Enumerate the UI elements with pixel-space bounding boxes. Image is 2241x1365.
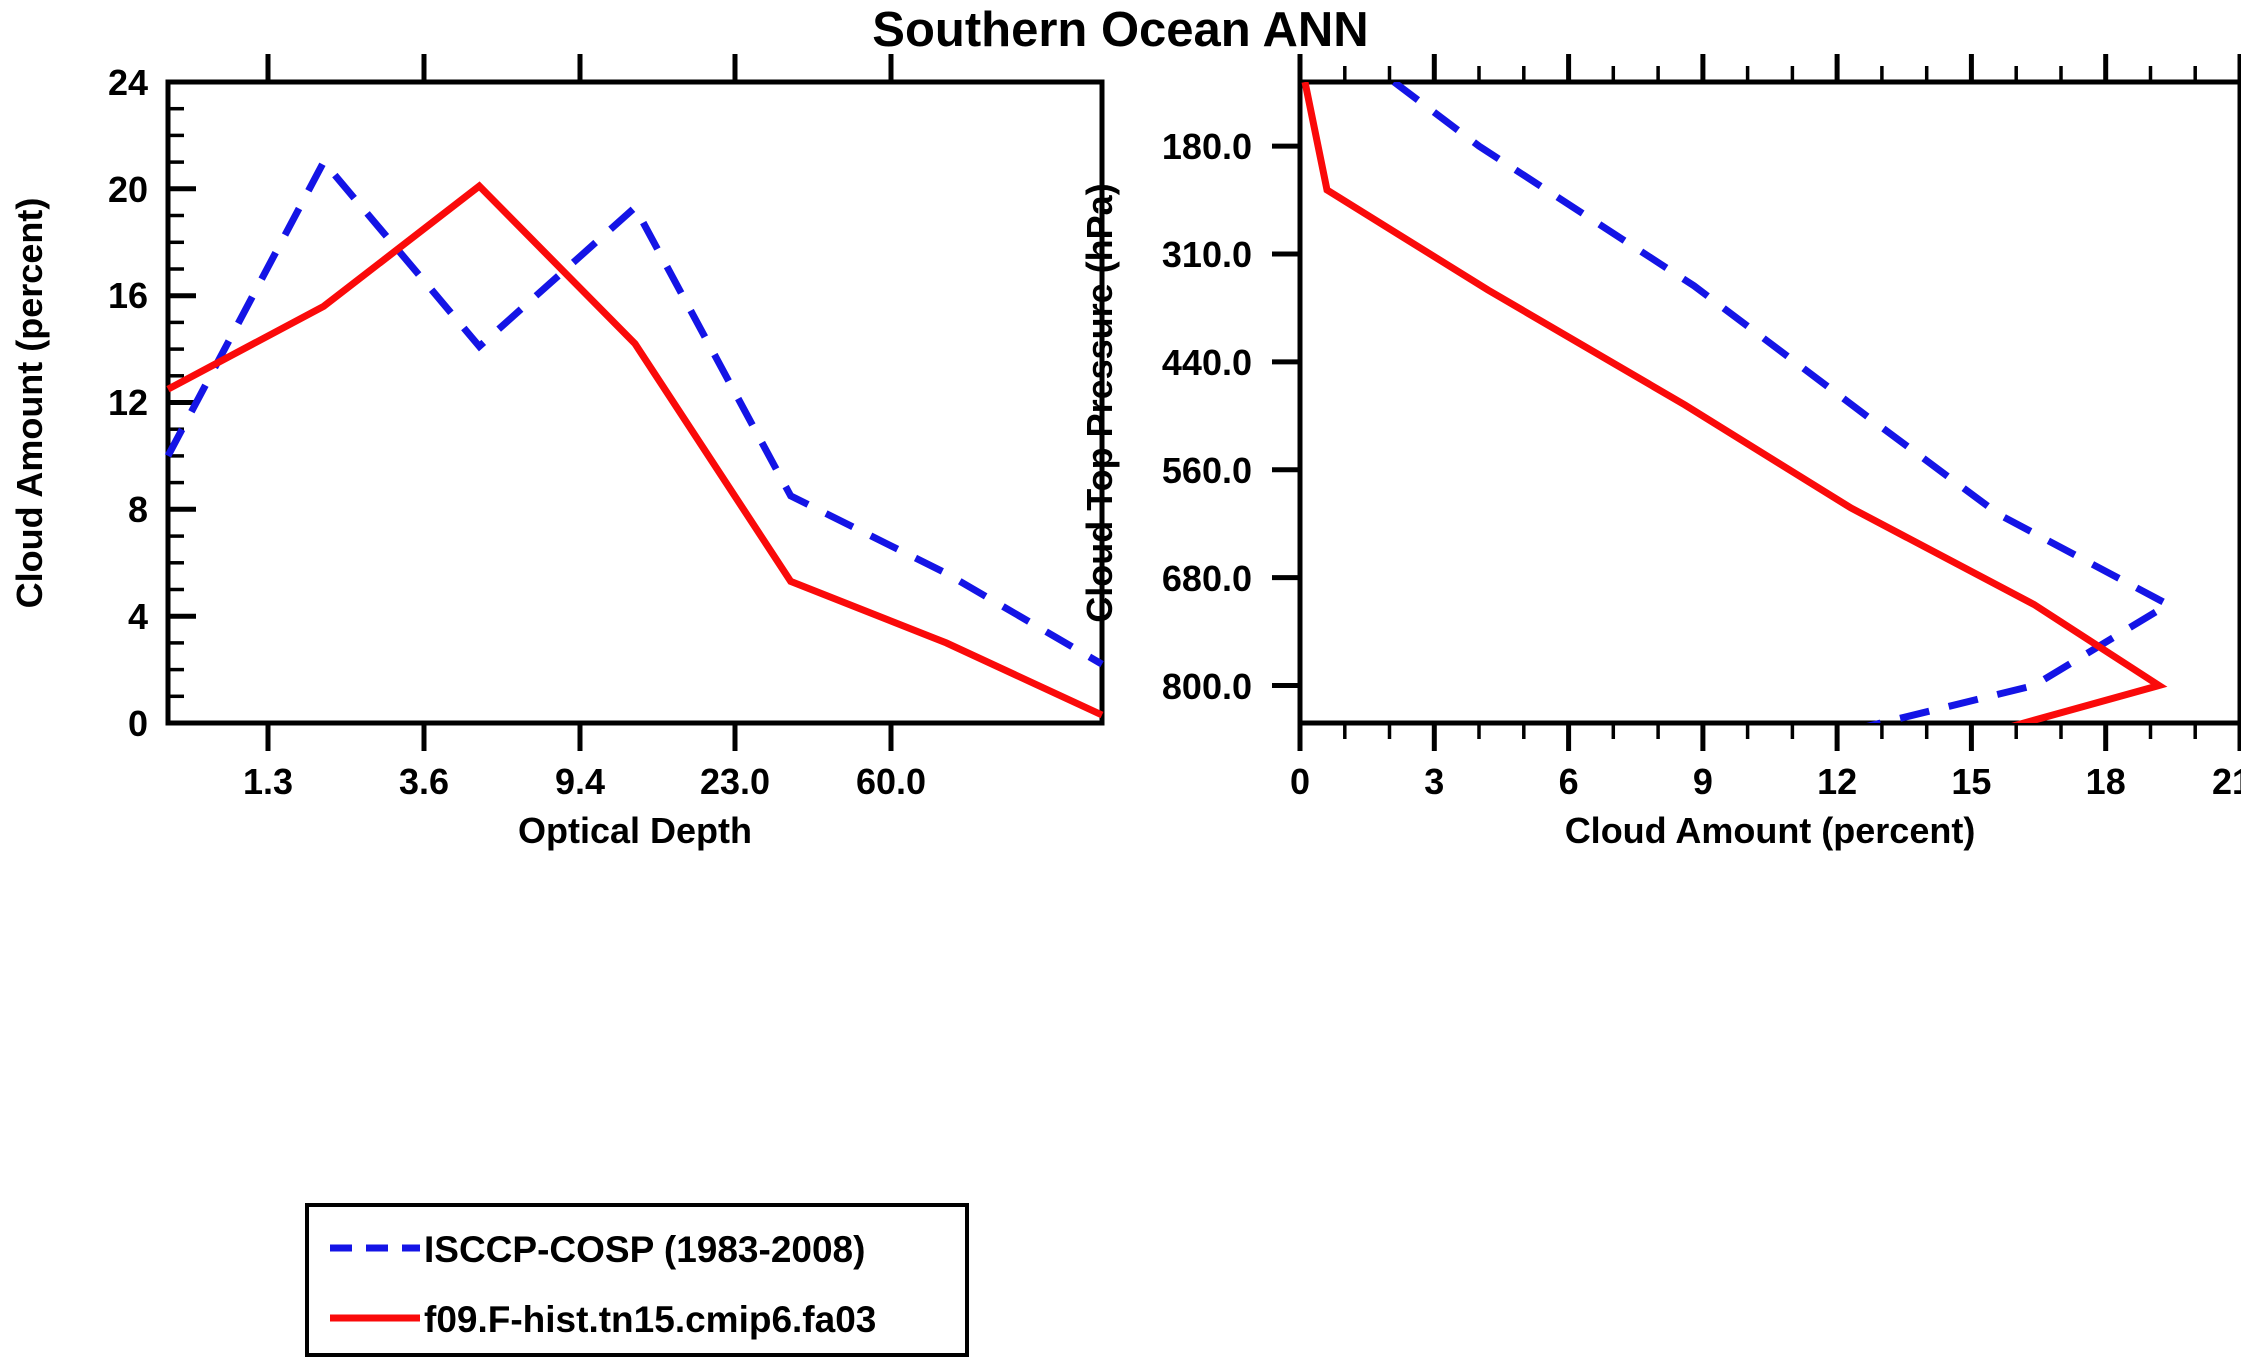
left-yaxis-label: Cloud Amount (percent) (9, 198, 50, 609)
right-xtick-21: 21 (2212, 761, 2241, 802)
left-xtick-2: 3.6 (399, 761, 449, 802)
right-ytick-800: 800.0 (1162, 666, 1252, 707)
right-yaxis-label: Cloud Top Pressure (hPa) (1079, 183, 1120, 622)
left-xtick-4: 23.0 (700, 761, 770, 802)
left-xaxis-label: Optical Depth (518, 810, 752, 851)
right-xtick-18: 18 (2086, 761, 2126, 802)
left-xtick-1: 1.3 (243, 761, 293, 802)
right-xtick-0: 0 (1290, 761, 1310, 802)
left-ytick-24: 24 (108, 62, 148, 103)
legend-label-isccp-cosp: ISCCP-COSP (1983-2008) (424, 1229, 865, 1270)
figure-root: Southern Ocean ANN (0, 0, 2241, 1365)
right-plot-frame (1300, 82, 2240, 723)
legend-label-f09-fhist: f09.F-hist.tn15.cmip6.fa03 (424, 1299, 876, 1340)
left-series-isccp-cosp (168, 162, 1102, 664)
left-series-f09-fhist (168, 186, 1102, 715)
left-xtick-5: 60.0 (856, 761, 926, 802)
left-plot-frame (168, 82, 1102, 723)
right-ytick-560: 560.0 (1162, 450, 1252, 491)
right-xtick-12: 12 (1817, 761, 1857, 802)
left-x-major-ticks (268, 54, 891, 751)
right-xaxis-label: Cloud Amount (percent) (1565, 810, 1976, 851)
right-series-f09-fhist (1305, 82, 2159, 760)
right-x-minor-ticks (1345, 66, 2195, 739)
right-xtick-9: 9 (1693, 761, 1713, 802)
right-ytick-440: 440.0 (1162, 342, 1252, 383)
left-y-major-ticks (168, 82, 196, 723)
right-ytick-310: 310.0 (1162, 234, 1252, 275)
left-ytick-8: 8 (128, 489, 148, 530)
left-ytick-0: 0 (128, 703, 148, 744)
figure-canvas: 0 4 8 12 16 20 24 1.3 3.6 9.4 (0, 0, 2241, 1365)
right-ytick-180: 180.0 (1162, 126, 1252, 167)
right-xtick-15: 15 (1951, 761, 1991, 802)
right-panel: 180.0 310.0 440.0 560.0 680.0 800.0 (1079, 54, 2241, 851)
left-ytick-4: 4 (128, 596, 148, 637)
right-xtick-6: 6 (1559, 761, 1579, 802)
left-ytick-12: 12 (108, 382, 148, 423)
left-ytick-16: 16 (108, 275, 148, 316)
legend: ISCCP-COSP (1983-2008) f09.F-hist.tn15.c… (307, 1205, 967, 1355)
left-xtick-3: 9.4 (555, 761, 605, 802)
right-series-isccp-cosp (1394, 82, 2168, 760)
right-y-major-ticks (1272, 146, 1300, 685)
right-ytick-680: 680.0 (1162, 558, 1252, 599)
right-xtick-3: 3 (1424, 761, 1444, 802)
left-panel: 0 4 8 12 16 20 24 1.3 3.6 9.4 (9, 54, 1102, 851)
left-ytick-20: 20 (108, 169, 148, 210)
